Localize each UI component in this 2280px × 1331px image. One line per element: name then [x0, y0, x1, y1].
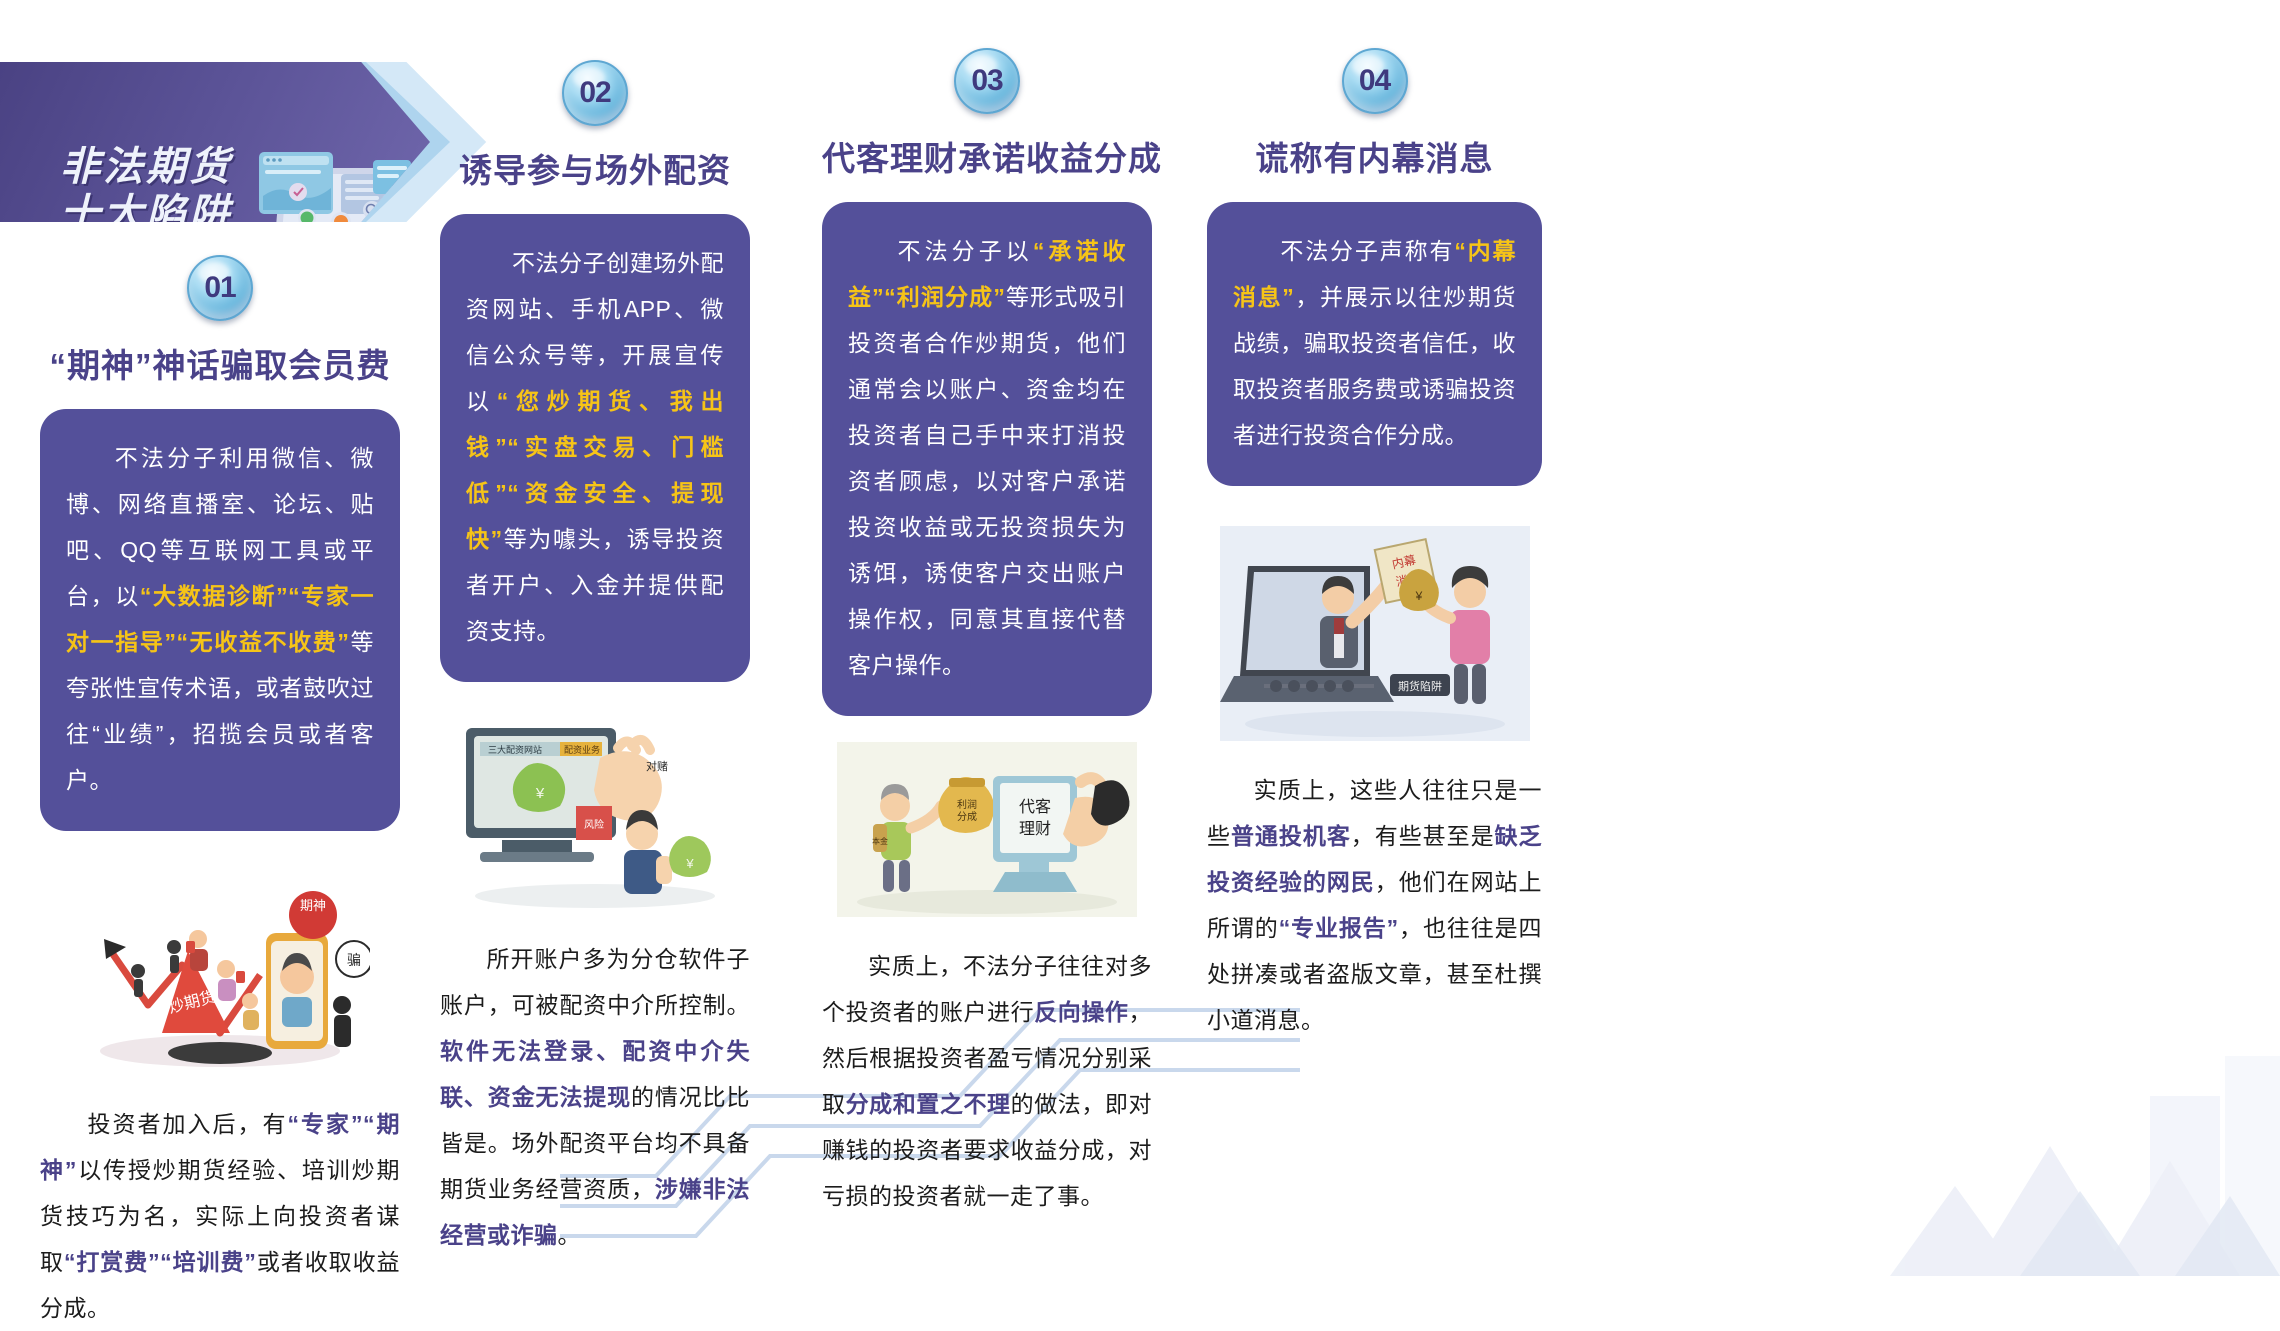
column-1: 01 “期神”神话骗取会员费 不法分子利用微信、微博、网络直播室、论坛、贴吧、Q… [40, 255, 400, 1331]
text-run-plain: ，有些甚至是 [1351, 823, 1495, 849]
text-run-plain: 投资者加入后，有 [86, 1111, 288, 1137]
decorative-polygons [1720, 946, 2280, 1276]
computer-funding-cartoon: 三大配资网站 配资业务 ¥ 对赌 [450, 710, 740, 910]
svg-text:期神: 期神 [300, 898, 326, 913]
text-run-blue: “专业报告” [1279, 915, 1399, 941]
step-number: 03 [971, 64, 1002, 98]
column-title-3: 代客理财承诺收益分成 [822, 132, 1152, 180]
column-title-2: 诱导参与场外配资 [440, 144, 750, 192]
svg-text:¥: ¥ [535, 785, 545, 802]
column-foot-2: 所开账户多为分仓软件子账户，可被配资中介所控制。软件无法登录、配资中介失联、资金… [440, 936, 750, 1258]
text-run-plain: 等为噱头，诱导投资者开户、入金并提供配资支持。 [466, 526, 724, 644]
card-text-1: 不法分子利用微信、微博、网络直播室、论坛、贴吧、QQ等互联网工具或平台，以“大数… [66, 445, 374, 793]
svg-text:¥: ¥ [1414, 589, 1422, 603]
banner: 非法期货 十大陷阱 [0, 62, 430, 222]
step-badge-04: 04 [1342, 48, 1408, 114]
svg-text:本金: 本金 [872, 836, 888, 846]
svg-text:配资业务: 配资业务 [564, 744, 600, 755]
step-badge-03: 03 [954, 48, 1020, 114]
svg-text:对赌: 对赌 [646, 759, 668, 773]
svg-text:风险: 风险 [584, 818, 604, 831]
poster-canvas: 非法期货 十大陷阱 [0, 0, 2280, 1276]
column-3: 03 代客理财承诺收益分成 不法分子以“承诺收益”“利润分成”等形式吸引投资者合… [822, 48, 1152, 1219]
step-badge-01: 01 [187, 255, 253, 321]
text-run-plain: 所开账户多为分仓软件子账户，可被配资中介所控制。 [440, 946, 750, 1018]
step-number: 02 [579, 76, 610, 110]
banner-title: 非法期货 十大陷阱 [60, 144, 232, 222]
column-title-1: “期神”神话骗取会员费 [40, 339, 400, 387]
text-run-plain: 不法分子以 [894, 238, 1033, 264]
step-number: 01 [204, 271, 235, 305]
column-foot-1: 投资者加入后，有“专家”“期神”以传授炒期货经验、培训炒期货技巧为名，实际上向投… [40, 1101, 400, 1331]
svg-text:代客: 代客 [1019, 798, 1051, 816]
svg-text:期货陷阱: 期货陷阱 [1398, 679, 1442, 693]
svg-text:利润: 利润 [957, 798, 977, 811]
text-run-blue: 反向操作 [1034, 999, 1128, 1025]
text-run-blue: 普通投机客 [1231, 823, 1351, 849]
column-foot-4: 实质上，这些人往往只是一些普通投机客，有些甚至是缺乏投资经验的网民，他们在网站上… [1207, 767, 1542, 1043]
svg-text:¥: ¥ [685, 856, 694, 871]
wealth-management-cartoon: 本金 利润 分成 代客 理财 [837, 742, 1137, 917]
svg-text:骗: 骗 [347, 952, 361, 968]
svg-text:分成: 分成 [957, 811, 977, 823]
text-run-blue: “打赏费”“培训费” [64, 1249, 256, 1275]
chart-crash-cartoon: 炒期货 [70, 855, 370, 1075]
card-text-4: 不法分子声称有“内幕消息”，并展示以往炒期货战绩，骗取投资者信任，收取投资者服务… [1233, 238, 1516, 448]
text-run-plain: 。 [558, 1222, 582, 1248]
insider-info-cartoon: 内幕 消息 ¥ [1220, 526, 1530, 741]
column-card-1: 不法分子利用微信、微博、网络直播室、论坛、贴吧、QQ等互联网工具或平台，以“大数… [40, 409, 400, 831]
step-number: 04 [1359, 64, 1390, 98]
column-title-4: 谎称有内幕消息 [1207, 132, 1542, 180]
step-badge-02: 02 [562, 60, 628, 126]
column-card-2: 不法分子创建场外配资网站、手机APP、微信公众号等，开展宣传以“您炒期货、我出钱… [440, 214, 750, 682]
svg-text:理财: 理财 [1019, 820, 1051, 838]
card-text-3: 不法分子以“承诺收益”“利润分成”等形式吸引投资者合作炒期货，他们通常会以账户、… [848, 238, 1126, 678]
card-text-2: 不法分子创建场外配资网站、手机APP、微信公众号等，开展宣传以“您炒期货、我出钱… [466, 250, 724, 644]
text-run-plain: 等形式吸引投资者合作炒期货，他们通常会以账户、资金均在投资者自己手中来打消投资者… [848, 284, 1126, 678]
column-foot-3: 实质上，不法分子往往对多个投资者的账户进行反向操作，然后根据投资者盈亏情况分别采… [822, 943, 1152, 1219]
text-run-plain: 不法分子声称有 [1279, 238, 1454, 264]
svg-text:三大配资网站: 三大配资网站 [488, 744, 542, 755]
column-2: 02 诱导参与场外配资 不法分子创建场外配资网站、手机APP、微信公众号等，开展… [440, 60, 750, 1258]
column-card-4: 不法分子声称有“内幕消息”，并展示以往炒期货战绩，骗取投资者信任，收取投资者服务… [1207, 202, 1542, 486]
column-4: 04 谎称有内幕消息 不法分子声称有“内幕消息”，并展示以往炒期货战绩，骗取投资… [1207, 48, 1542, 1043]
column-card-3: 不法分子以“承诺收益”“利润分成”等形式吸引投资者合作炒期货，他们通常会以账户、… [822, 202, 1152, 716]
text-run-blue: 分成和置之不理 [846, 1091, 1011, 1117]
